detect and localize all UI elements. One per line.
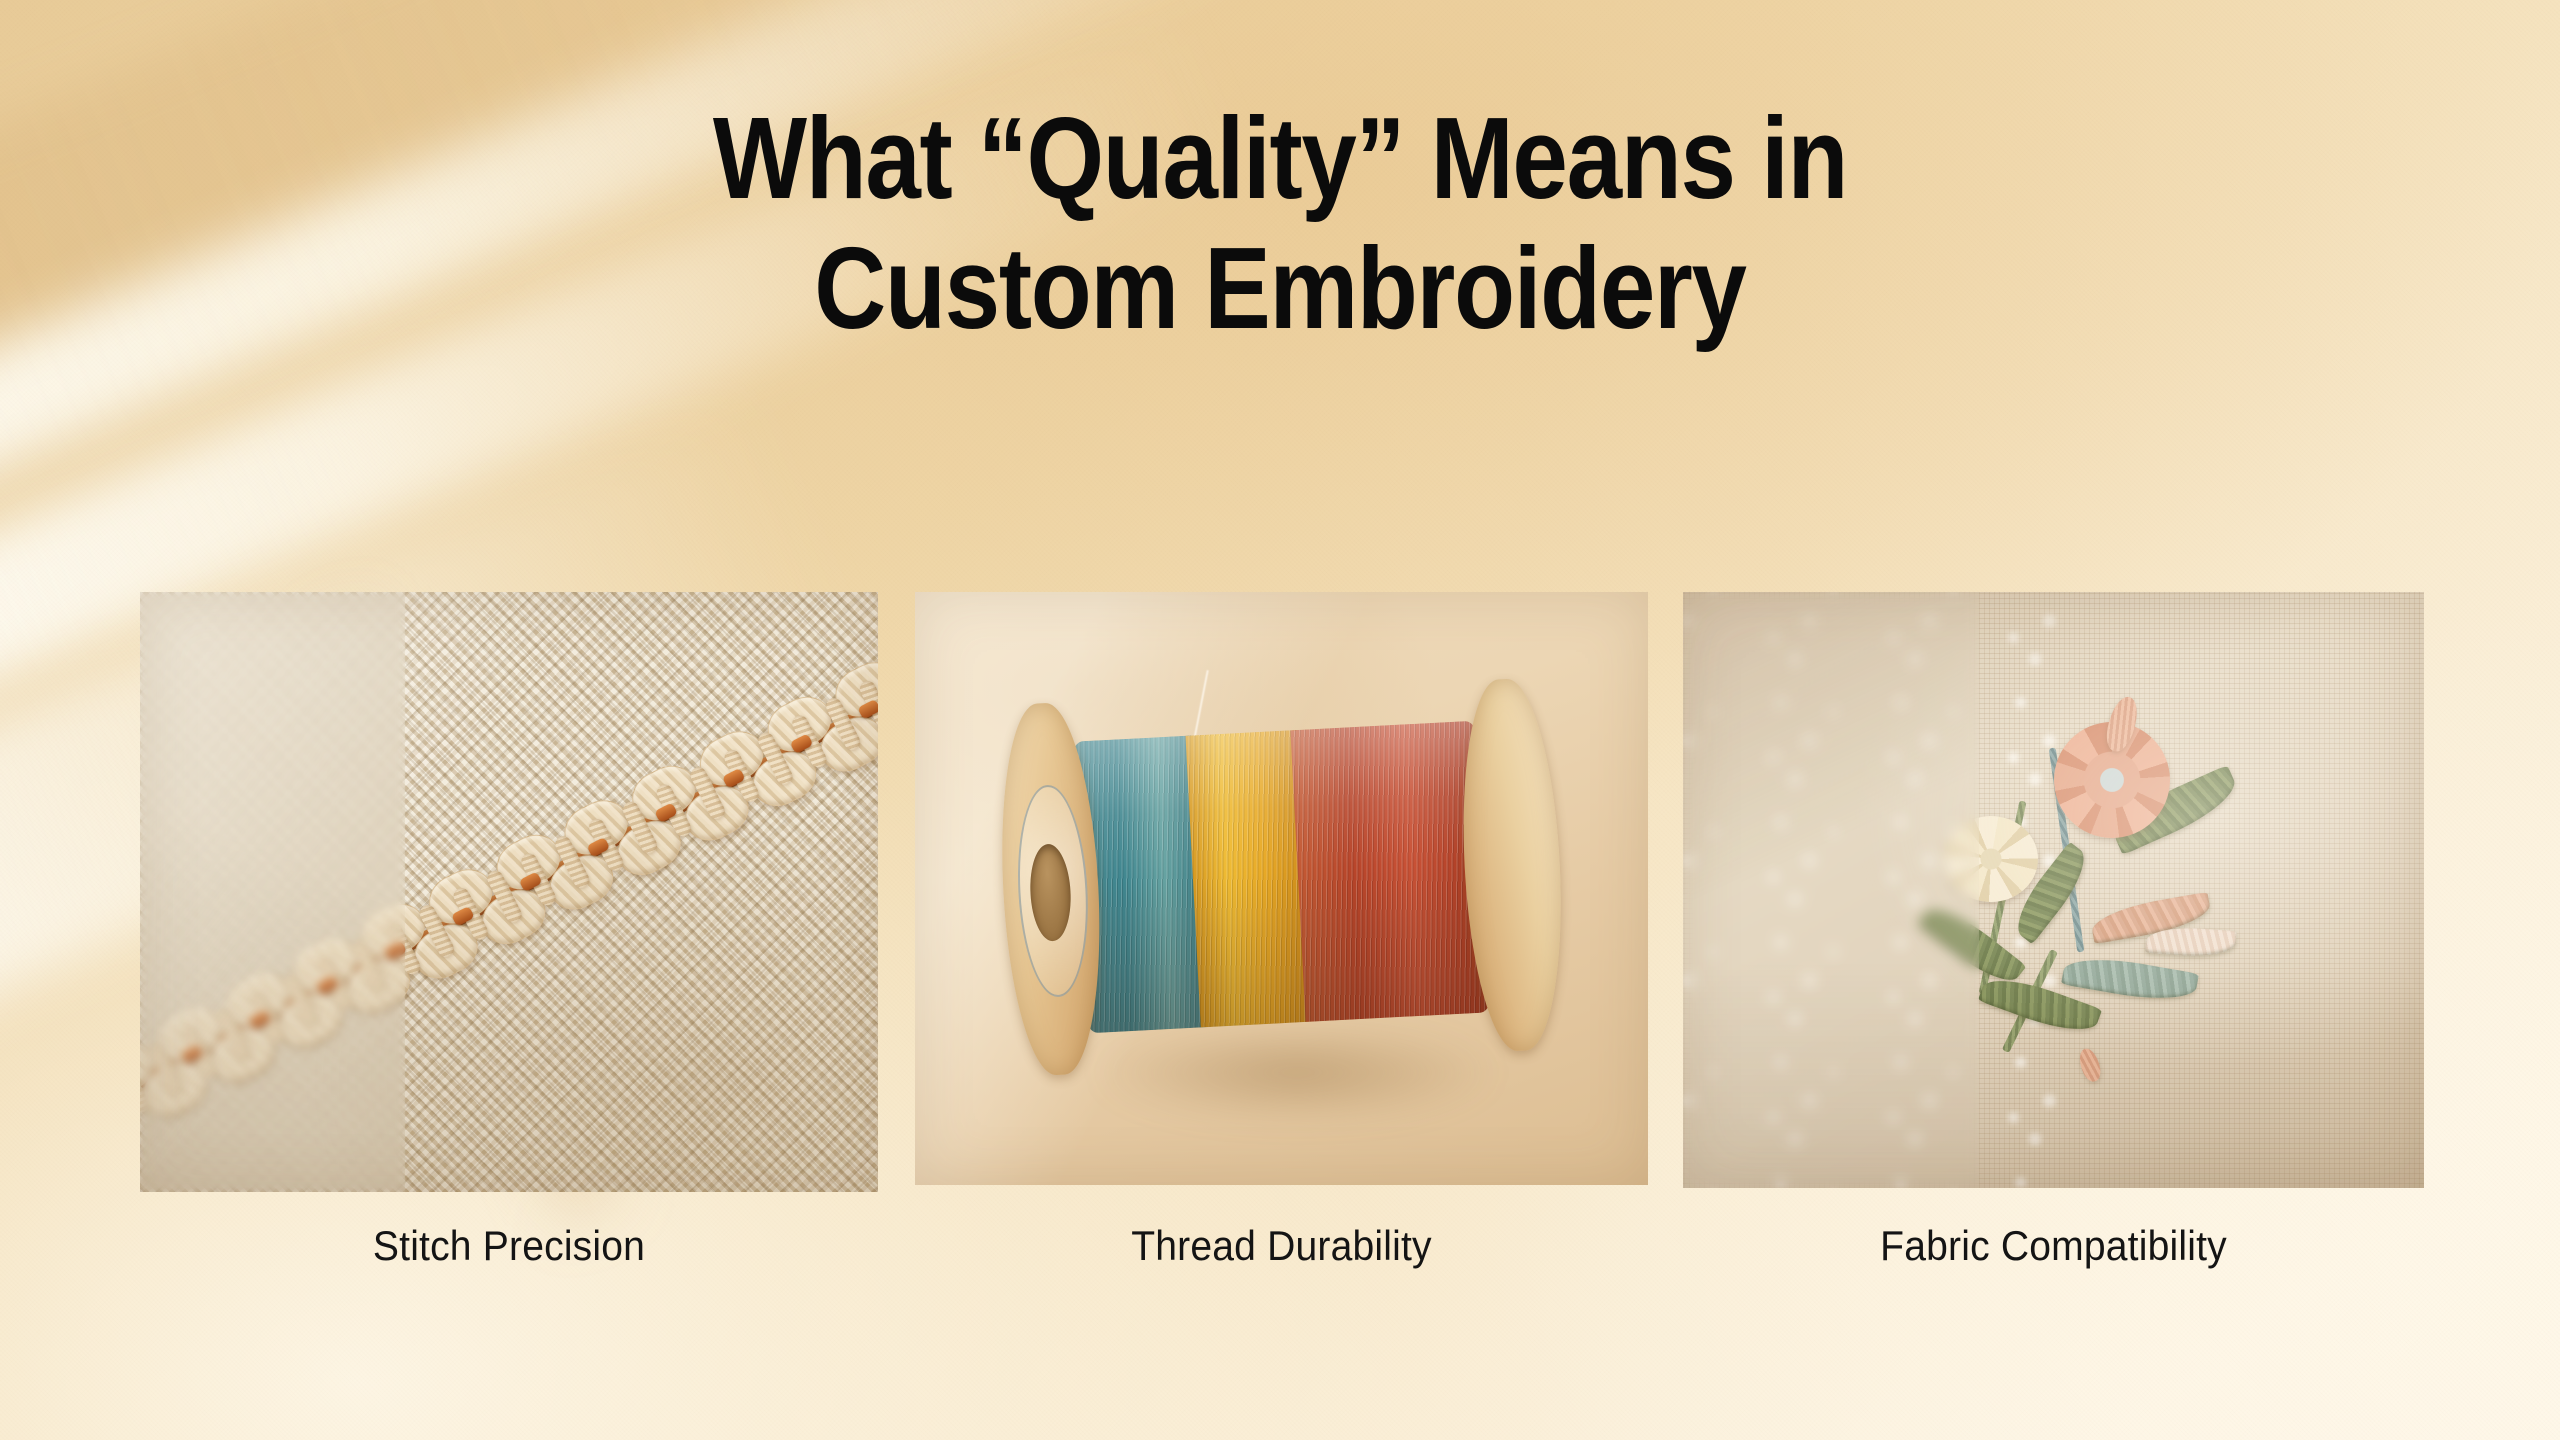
photo-thread-spool xyxy=(915,592,1648,1185)
image-row xyxy=(140,592,2424,1192)
page-title: What “Quality” Means in Custom Embroider… xyxy=(0,100,2560,346)
card-fabric-compatibility[interactable] xyxy=(1683,592,2424,1188)
photo-floral-embroidery xyxy=(1683,592,2424,1188)
title-line-1: What “Quality” Means in xyxy=(179,100,2381,216)
linen-lighting-overlay xyxy=(140,592,878,1192)
title-line-2: Custom Embroidery xyxy=(179,230,2381,346)
slide-canvas: What “Quality” Means in Custom Embroider… xyxy=(0,0,2560,1440)
caption-fabric-compatibility: Fabric Compatibility xyxy=(1709,1222,2398,1270)
caption-stitch-precision: Stitch Precision xyxy=(166,1222,852,1270)
thread-barrel xyxy=(1074,720,1490,1033)
thread-sheen xyxy=(1074,720,1490,1033)
caption-thread-durability: Thread Durability xyxy=(941,1222,1623,1270)
caption-row: Stitch Precision Thread Durability Fabri… xyxy=(140,1222,2424,1292)
card-thread-durability[interactable] xyxy=(915,592,1648,1185)
photo-stitch-precision xyxy=(140,592,878,1192)
thread-spool xyxy=(995,696,1569,1057)
fabric-lighting-overlay xyxy=(1683,592,2424,1188)
card-stitch-precision[interactable] xyxy=(140,592,878,1192)
